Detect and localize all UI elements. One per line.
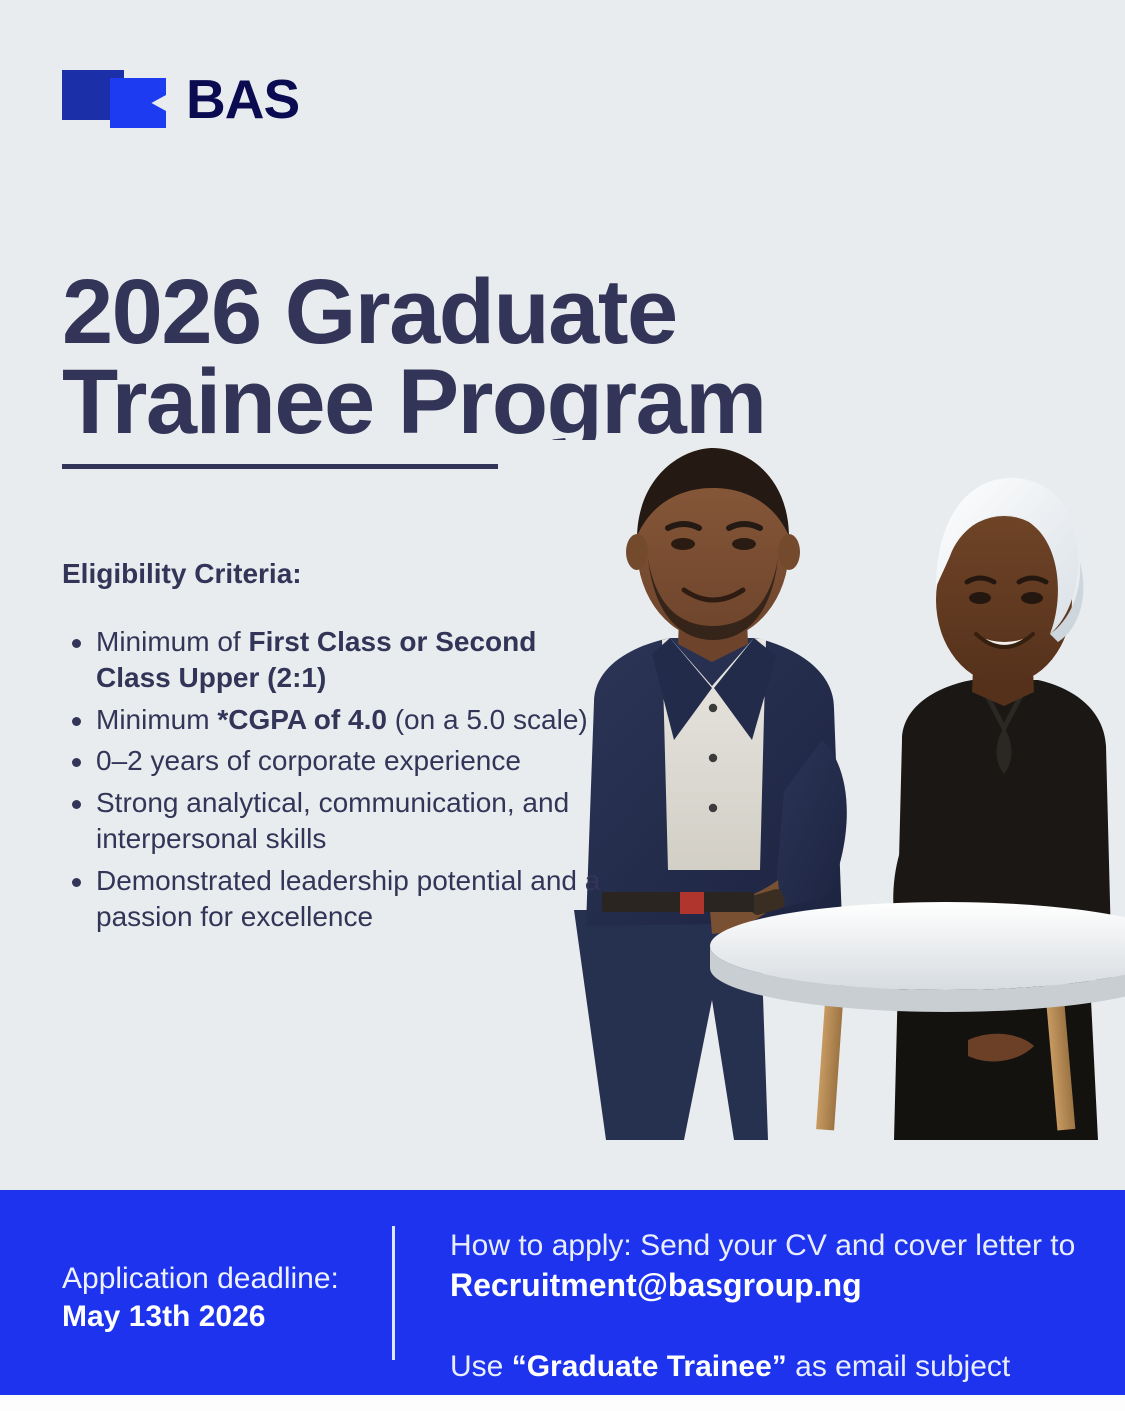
title-line-2: Trainee Program (62, 357, 1052, 447)
deadline-label: Application deadline: (62, 1262, 339, 1295)
subject-post: as email subject (787, 1350, 1010, 1383)
item-bold: *CGPA of 4.0 (217, 704, 387, 735)
apply-instruction: How to apply: Send your CV and cover let… (450, 1226, 1090, 1265)
item-pre: Demonstrated leadership potential and a … (96, 865, 600, 932)
list-item: Strong analytical, communication, and in… (62, 785, 602, 857)
application-deadline: Application deadline: May 13th 2026 (62, 1260, 362, 1337)
bas-logo-mark-icon (62, 70, 166, 128)
brand-logo: BAS (62, 70, 299, 128)
title-line-1: 2026 Graduate (62, 261, 677, 363)
subject-bold: “Graduate Trainee” (512, 1350, 787, 1383)
how-to-apply: How to apply: Send your CV and cover let… (450, 1226, 1090, 1386)
list-item: Demonstrated leadership potential and a … (62, 863, 602, 935)
eligibility-list: Minimum of First Class or Second Class U… (62, 624, 602, 935)
brand-wordmark: BAS (186, 72, 299, 127)
item-pre: Minimum (96, 704, 217, 735)
subject-pre: Use (450, 1350, 512, 1383)
list-item: Minimum *CGPA of 4.0 (on a 5.0 scale) (62, 702, 602, 738)
item-post: (on a 5.0 scale) (387, 704, 588, 735)
item-pre: Minimum of (96, 626, 248, 657)
item-pre: Strong analytical, communication, and in… (96, 787, 569, 854)
list-item: 0–2 years of corporate experience (62, 743, 602, 779)
page-title: 2026 Graduate Trainee Program (62, 267, 1052, 447)
logo-chevron-shape (110, 78, 166, 128)
footer-band: Application deadline: May 13th 2026 How … (0, 1190, 1125, 1395)
email-subject-note: Use “Graduate Trainee” as email subject (450, 1347, 1090, 1386)
list-item: Minimum of First Class or Second Class U… (62, 624, 602, 696)
footer-vertical-divider (392, 1226, 395, 1360)
item-pre: 0–2 years of corporate experience (96, 745, 521, 776)
poster-canvas: BAS 2026 Graduate Trainee Program (0, 0, 1125, 1411)
deadline-date: May 13th 2026 (62, 1298, 362, 1336)
bottom-white-strip (0, 1395, 1125, 1411)
eligibility-heading: Eligibility Criteria: (62, 558, 602, 590)
recruitment-email[interactable]: Recruitment@basgroup.ng (450, 1265, 1090, 1307)
eligibility-section: Eligibility Criteria: Minimum of First C… (62, 558, 602, 941)
